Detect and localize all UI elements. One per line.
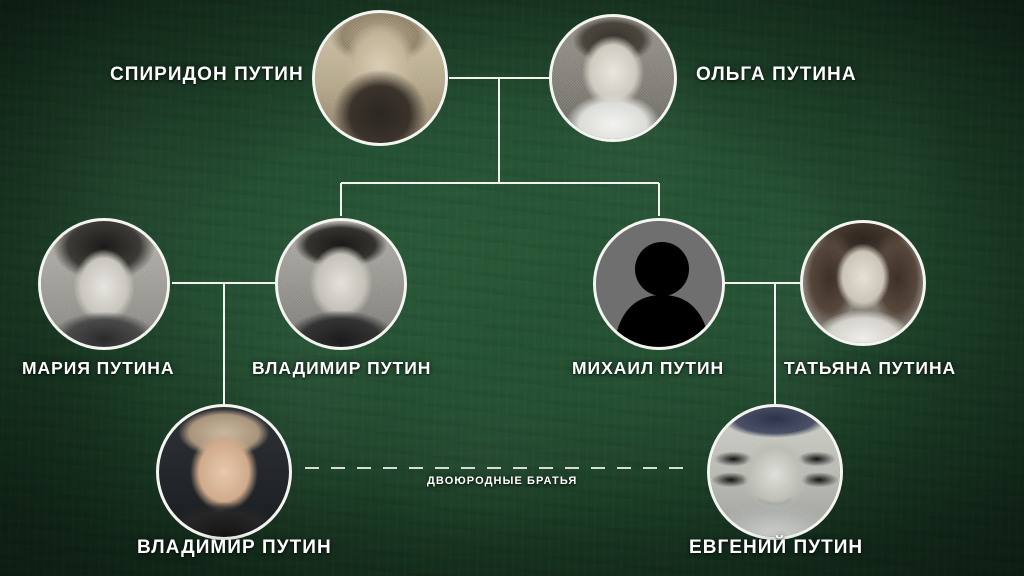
portrait-mikhail [593,218,725,350]
label-vladimir-senior: ВЛАДИМИР ПУТИН [252,358,431,379]
family-tree-graphic: СПИРИДОН ПУТИН ОЛЬГА ПУТИНА МАРИЯ ПУТИНА… [0,0,1024,576]
portrait-olga [549,14,677,142]
label-mikhail: МИХАИЛ ПУТИН [572,358,724,379]
label-cousins: ДВОЮРОДНЫЕ БРАТЬЯ [427,475,577,487]
portrait-vladimir-junior [156,404,292,540]
label-maria: МАРИЯ ПУТИНА [22,358,174,379]
portrait-evgeny [707,404,843,540]
label-spiridon: СПИРИДОН ПУТИН [110,64,304,86]
label-vladimir-junior: ВЛАДИМИР ПУТИН [137,537,332,559]
portrait-maria [38,218,170,350]
portrait-tatyana [800,220,926,346]
label-olga: ОЛЬГА ПУТИНА [696,64,857,86]
portrait-vladimir-senior [275,218,407,350]
portrait-spiridon [312,10,448,146]
person-silhouette-icon [596,221,722,347]
label-evgeny: ЕВГЕНИЙ ПУТИН [689,537,863,559]
label-tatyana: ТАТЬЯНА ПУТИНА [784,358,956,379]
